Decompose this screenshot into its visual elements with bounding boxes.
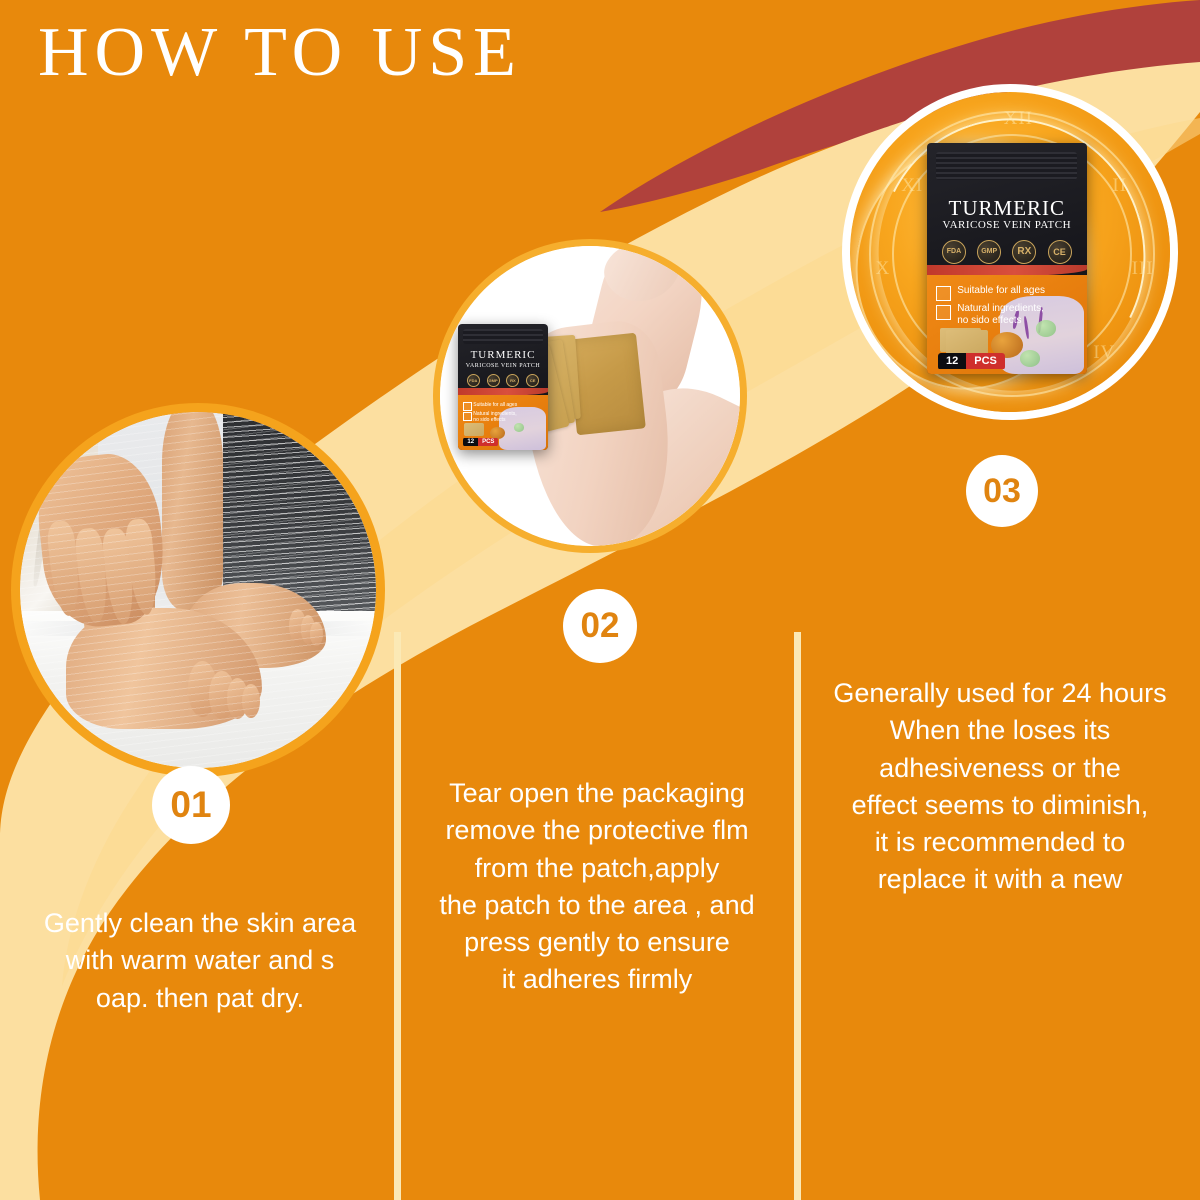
- clock-numeral: XI: [901, 175, 923, 197]
- feature-2: Natural ingredients, no sido effects: [473, 411, 516, 423]
- feature-1: Suitable for all ages: [473, 402, 517, 408]
- clock-numeral: XII: [1004, 108, 1033, 130]
- column-divider-2: [794, 632, 801, 1200]
- step-2-photo-circle: TURMERIC VARICOSE VEIN PATCH FDA GMP RX …: [440, 246, 740, 546]
- column-divider-1: [394, 632, 401, 1200]
- step-1-caption: Gently clean the skin area with warm wat…: [10, 905, 390, 1017]
- infographic-root: HOW TO USE: [0, 0, 1200, 1200]
- step-3-number-badge: 03: [966, 455, 1038, 527]
- shower-scene: [20, 412, 376, 768]
- feature-1: Suitable for all ages: [957, 285, 1045, 296]
- pack-count-label: PCS: [478, 438, 498, 446]
- package-brand: TURMERIC: [458, 349, 548, 361]
- cert-badge-ce: CE: [526, 374, 539, 387]
- cert-badge-ce: CE: [1048, 240, 1072, 264]
- applied-patch: [567, 333, 646, 436]
- cert-badge-medical: RX: [506, 374, 519, 387]
- cert-badge-medical: RX: [1012, 240, 1036, 264]
- step-1-photo-circle: [20, 412, 376, 768]
- package-subtitle: VARICOSE VEIN PATCH: [927, 219, 1087, 231]
- product-package-main: TURMERIC VARICOSE VEIN PATCH FDA GMP RX …: [927, 143, 1087, 373]
- step-1-number-badge: 01: [152, 766, 230, 844]
- clock-numeral: II: [1112, 175, 1127, 197]
- cert-badge-fda: FDA: [942, 240, 966, 264]
- product-package-mini: TURMERIC VARICOSE VEIN PATCH FDA GMP RX …: [458, 324, 548, 450]
- clock-numeral: IV: [1093, 342, 1115, 364]
- clock-numeral: X: [876, 258, 891, 280]
- step-2-caption: Tear open the packaging remove the prote…: [404, 775, 790, 999]
- cert-badge-fda: FDA: [467, 374, 480, 387]
- package-brand: TURMERIC: [927, 196, 1087, 221]
- step-2-number-badge: 02: [563, 589, 637, 663]
- water-droplets: [20, 412, 376, 768]
- cert-badge-gmp: GMP: [487, 374, 500, 387]
- cert-badge-gmp: GMP: [977, 240, 1001, 264]
- pack-count-label: PCS: [966, 353, 1005, 369]
- page-title: HOW TO USE: [38, 16, 522, 90]
- package-subtitle: VARICOSE VEIN PATCH: [458, 363, 548, 369]
- clock-numeral: III: [1132, 258, 1154, 280]
- step-3-caption: Generally used for 24 hours When the los…: [806, 675, 1194, 899]
- step-3-photo-circle: XII II III IV XI X TURMERIC VARICOSE VEI…: [850, 92, 1170, 412]
- pack-count-number: 12: [938, 353, 966, 369]
- feature-2: Natural ingredients, no sido effects: [957, 303, 1044, 327]
- pack-count-number: 12: [463, 438, 478, 446]
